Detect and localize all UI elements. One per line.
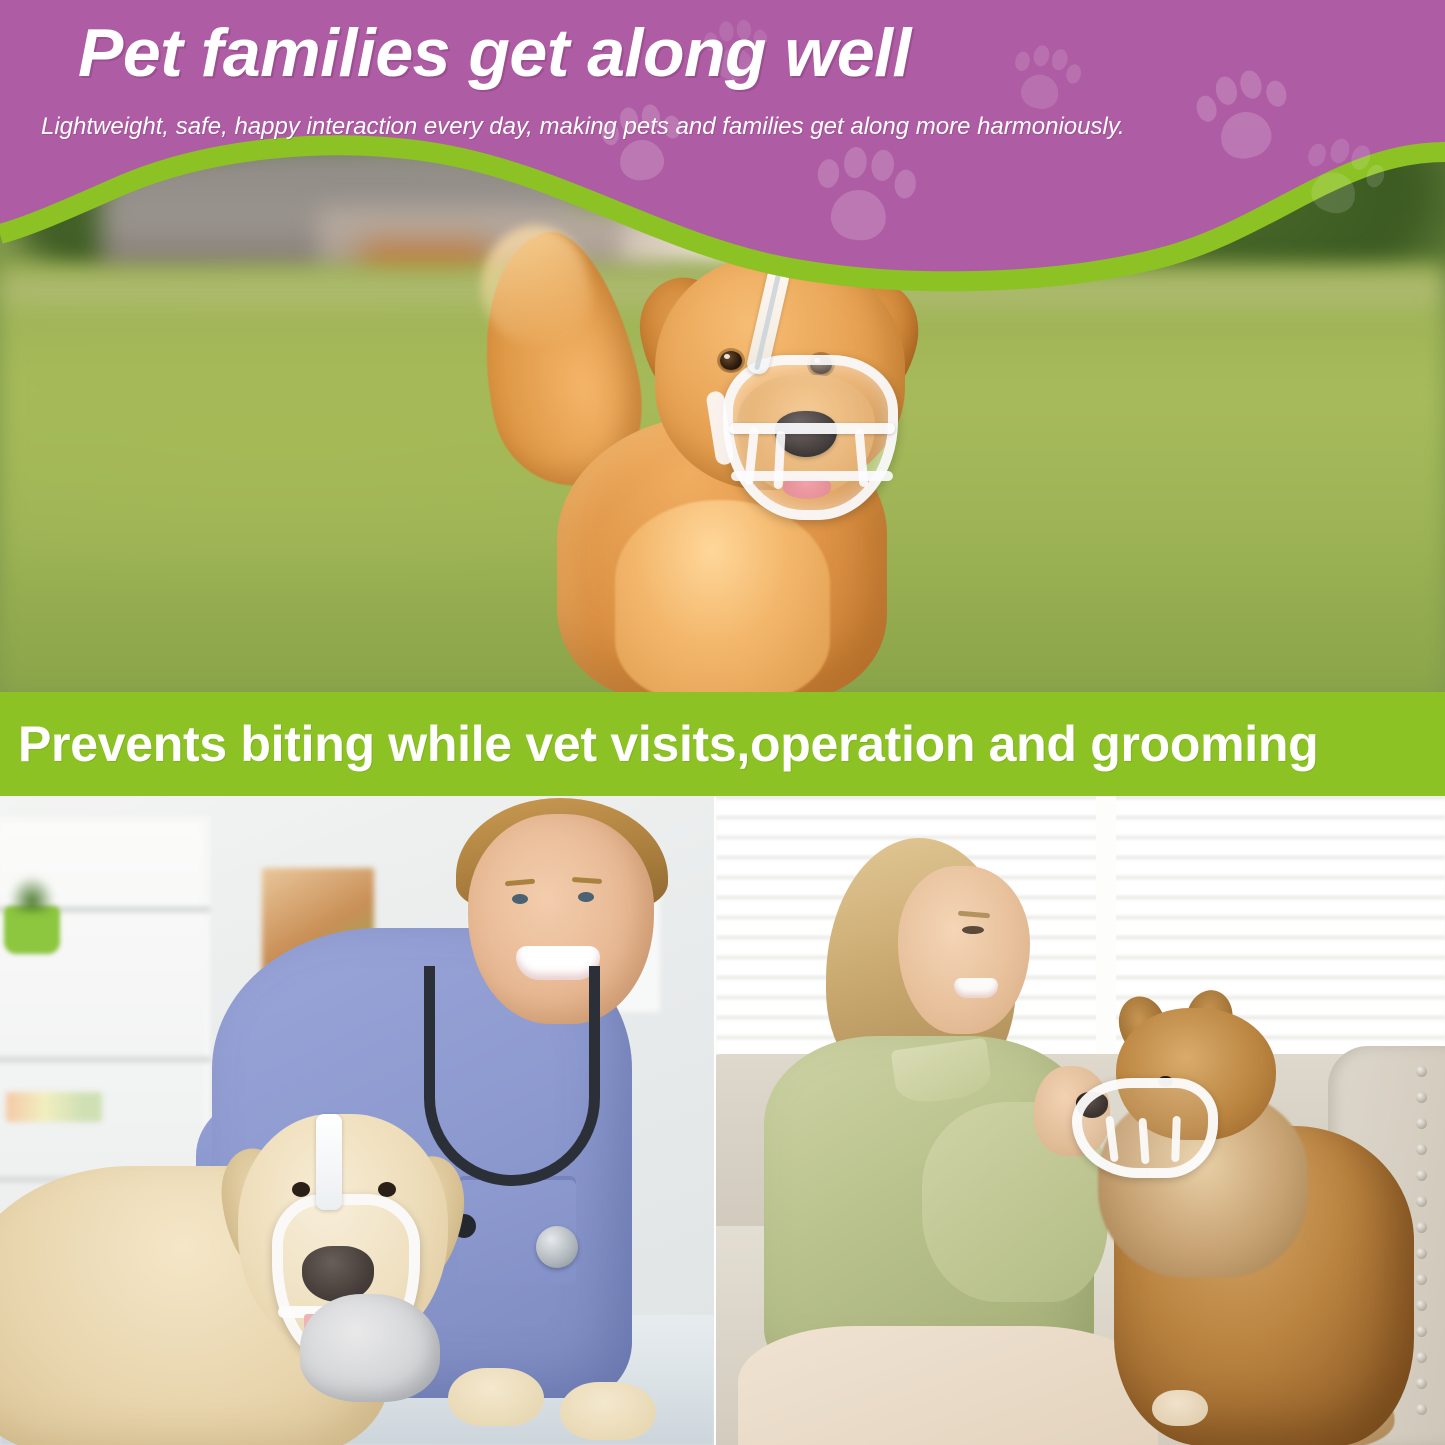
clinic-cups: [6, 1092, 102, 1122]
dog-eye-left: [720, 351, 742, 370]
feature-banner-text: Prevents biting while vet visits,operati…: [18, 715, 1318, 773]
stethoscope-tube: [424, 966, 600, 1186]
hero-dog-golden-retriever: [465, 215, 985, 695]
woman-pants: [738, 1326, 1158, 1445]
woman-eye: [962, 926, 984, 934]
photo-home-sofa: [716, 796, 1445, 1445]
woman-face: [898, 866, 1030, 1034]
page-subtitle: Lightweight, safe, happy interaction eve…: [41, 113, 1125, 141]
muzzle-band-lower: [731, 471, 893, 481]
vet-dog-paw-1: [448, 1368, 544, 1426]
clinic-plant-pot: [4, 906, 60, 954]
woman-smile: [954, 978, 998, 998]
vet-dog-paw-2: [560, 1382, 656, 1440]
product-infographic: Pet families get along well Lightweight,…: [0, 0, 1445, 1445]
vet-dog-eye-left: [292, 1182, 310, 1197]
vet-dog-eye-right: [378, 1182, 396, 1197]
dog-chest: [615, 500, 830, 695]
vet-eye-right: [578, 892, 594, 902]
bottom-photo-row: [0, 796, 1445, 1445]
page-title: Pet families get along well: [78, 14, 911, 92]
sheltie-muzzle-bar-3: [1171, 1116, 1181, 1162]
vet-gloved-hand: [300, 1294, 440, 1402]
photo-vet-clinic: [0, 796, 714, 1445]
vet-dog-muzzle-head-strap: [316, 1114, 342, 1210]
sofa-stud-trim: [1416, 1066, 1434, 1436]
vet-eye-left: [512, 894, 528, 904]
feature-banner: Prevents biting while vet visits,operati…: [0, 692, 1445, 796]
sheltie-paw: [1152, 1390, 1208, 1426]
stethoscope-bell: [536, 1226, 578, 1268]
